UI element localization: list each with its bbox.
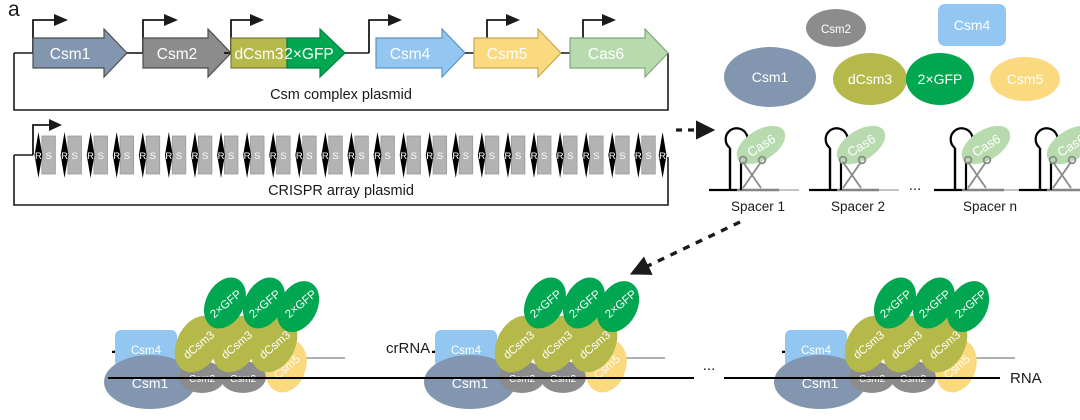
- crispr-repeat-symbol: R: [87, 151, 94, 162]
- protein-csm5-label: Csm5: [1007, 71, 1044, 87]
- crispr-spacer-symbol: S: [306, 151, 312, 162]
- processing-ellipsis: ...: [909, 177, 922, 194]
- gene-cas6: Cas6: [570, 29, 668, 77]
- gene-2xgfp-label: 2×GFP: [284, 46, 334, 63]
- crispr-spacer-symbol: S: [489, 151, 495, 162]
- spacer-label: Spacer 2: [831, 199, 885, 214]
- crispr-repeat-symbol: R: [426, 151, 433, 162]
- complex-csm2-label: Csm2: [230, 374, 257, 385]
- crispr-repeat-symbol: R: [452, 151, 459, 162]
- crispr-repeat-symbol: R: [113, 151, 120, 162]
- crispr-repeat-symbol: R: [322, 151, 329, 162]
- crispr-repeat-symbol: R: [583, 151, 590, 162]
- crispr-spacer-symbol: S: [567, 151, 573, 162]
- protein-csm2-label: Csm2: [821, 24, 851, 36]
- csm-effector-complex: Csm4Csm1Csm2Csm2Csm5dCsm3dCsm3dCsm32×GFP…: [104, 270, 345, 409]
- crrna-hairpin-unit: Cas6: [809, 118, 899, 190]
- crispr-spacer-symbol: S: [98, 151, 104, 162]
- protein-blob-group: Csm1 Csm2 dCsm3 2×GFP Csm4 Csm5: [724, 4, 1060, 107]
- gene-dcsm3-2xgfp-fusion: dCsm3 2×GFP: [231, 29, 345, 77]
- crispr-spacer-symbol: S: [332, 151, 338, 162]
- crispr-repeat-symbol: R: [635, 151, 642, 162]
- crispr-repeat-spacer-units: SRSRSRSRSRSRSRSRSRSRSRSRSRSRSRSRSRSRSRSR…: [35, 132, 667, 178]
- gene-csm4: Csm4: [376, 29, 465, 77]
- crispr-repeat-symbol: R: [531, 151, 538, 162]
- crispr-repeat-symbol: R: [191, 151, 198, 162]
- complex-csm2-label: Csm2: [550, 374, 577, 385]
- crispr-spacer-symbol: S: [280, 151, 286, 162]
- complex-csm2-label: Csm2: [189, 374, 216, 385]
- gene-csm1-label: Csm1: [50, 46, 90, 63]
- crispr-repeat-symbol: R: [244, 151, 251, 162]
- crispr-spacer-symbol: S: [72, 151, 78, 162]
- crispr-spacer-symbol: S: [385, 151, 391, 162]
- gene-csm4-label: Csm4: [390, 46, 431, 63]
- crispr-repeat-symbol: R: [400, 151, 407, 162]
- gene-csm1: Csm1: [33, 29, 127, 77]
- crispr-spacer-symbol: S: [150, 151, 156, 162]
- protein-dcsm3-label: dCsm3: [848, 71, 893, 87]
- crrna-hairpin-unit: Cas6: [934, 118, 1024, 190]
- crispr-repeat-symbol: R: [557, 151, 564, 162]
- crispr-spacer-symbol: S: [411, 151, 417, 162]
- crispr-repeat-symbol: R: [270, 151, 277, 162]
- crispr-spacer-symbol: S: [228, 151, 234, 162]
- crrna-hairpin-unit: Cas6: [1019, 118, 1080, 190]
- crispr-repeat-symbol: R: [348, 151, 355, 162]
- crispr-spacer-symbol: S: [515, 151, 521, 162]
- crispr-array-plasmid: SRSRSRSRSRSRSRSRSRSRSRSRSRSRSRSRSRSRSRSR…: [14, 119, 668, 205]
- crispr-spacer-symbol: S: [619, 151, 625, 162]
- crispr-spacer-symbol: S: [45, 151, 51, 162]
- gene-cas6-label: Cas6: [588, 46, 624, 63]
- rna-label: RNA: [1010, 370, 1042, 387]
- crispr-repeat-symbol: R: [609, 151, 616, 162]
- complex-csm2-label: Csm2: [509, 374, 536, 385]
- crispr-spacer-symbol: S: [593, 151, 599, 162]
- crispr-spacer-symbol: S: [202, 151, 208, 162]
- crispr-repeat-symbol: R: [218, 151, 225, 162]
- plasmid1-caption: Csm complex plasmid: [270, 87, 412, 103]
- spacer-label: Spacer 1: [731, 199, 785, 214]
- crispr-spacer-symbol: S: [124, 151, 130, 162]
- protein-csm4-label: Csm4: [954, 17, 991, 33]
- crispr-repeat-symbol: R: [61, 151, 68, 162]
- csm-complex-plasmid: Csm complex plasmid Csm1 Csm2: [14, 14, 668, 110]
- gene-csm2-label: Csm2: [157, 46, 197, 63]
- complex-csm2-label: Csm2: [900, 374, 927, 385]
- crispr-spacer-symbol: S: [358, 151, 364, 162]
- spacer-label: Spacer n: [963, 199, 1017, 214]
- protein-csm1-label: Csm1: [752, 69, 789, 85]
- crispr-spacer-symbol: S: [645, 151, 651, 162]
- csm-effector-complex: Csm4Csm1Csm2Csm2Csm5dCsm3dCsm3dCsm32×GFP…: [424, 270, 665, 409]
- crispr-repeat-symbol: R: [478, 151, 485, 162]
- crrna-processing-group: Cas6Cas6Cas6Cas6Spacer 1Spacer 2Spacer n…: [709, 118, 1080, 214]
- crispr-spacer-symbol: S: [541, 151, 547, 162]
- crispr-spacer-symbol: S: [254, 151, 260, 162]
- gene-csm2: Csm2: [143, 29, 231, 77]
- crispr-repeat-symbol: R: [659, 151, 666, 162]
- crispr-spacer-symbol: S: [437, 151, 443, 162]
- diagram-canvas: Csm complex plasmid Csm1 Csm2: [0, 0, 1080, 420]
- crispr-repeat-symbol: R: [296, 151, 303, 162]
- dashed-arrow-to-complex: [633, 222, 740, 273]
- gene-dcsm3-label: dCsm3: [234, 46, 283, 63]
- crispr-repeat-symbol: R: [504, 151, 511, 162]
- crrna-label: crRNA: [386, 340, 430, 357]
- plasmid2-caption: CRISPR array plasmid: [268, 183, 414, 199]
- crispr-spacer-symbol: S: [463, 151, 469, 162]
- gene-csm5-label: Csm5: [487, 46, 527, 63]
- crispr-repeat-symbol: R: [139, 151, 146, 162]
- crispr-spacer-symbol: S: [176, 151, 182, 162]
- complex-csm2-label: Csm2: [859, 374, 886, 385]
- protein-2xgfp-label: 2×GFP: [918, 71, 963, 87]
- crrna-hairpin-unit: Cas6: [709, 118, 799, 190]
- complex-ellipsis: ...: [703, 357, 716, 374]
- crispr-repeat-symbol: R: [374, 151, 381, 162]
- crispr-repeat-symbol: R: [165, 151, 172, 162]
- crispr-repeat-symbol: R: [35, 151, 42, 162]
- figure-panel-a: a Csm complex plasmid Csm1: [0, 0, 1080, 420]
- assembled-complex-group: Csm4Csm1Csm2Csm2Csm5dCsm3dCsm3dCsm32×GFP…: [104, 270, 1015, 409]
- csm-effector-complex: Csm4Csm1Csm2Csm2Csm5dCsm3dCsm3dCsm32×GFP…: [774, 270, 1015, 409]
